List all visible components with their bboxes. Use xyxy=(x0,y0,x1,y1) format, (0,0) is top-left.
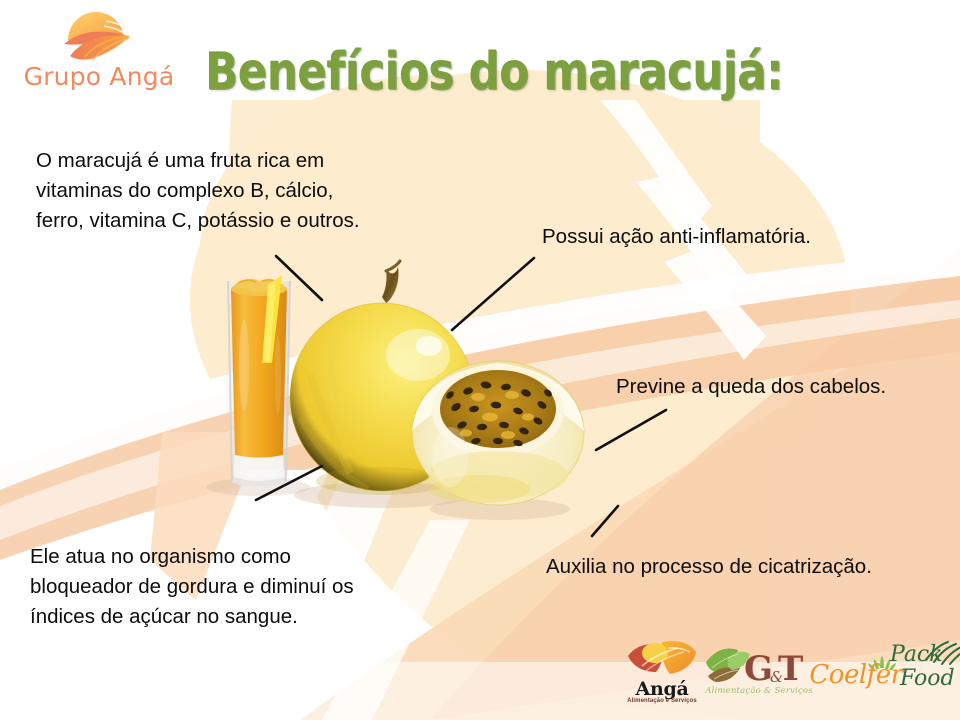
svg-text:&: & xyxy=(770,668,783,686)
fruit-stem xyxy=(382,267,399,303)
passion-fruit-artwork xyxy=(150,245,610,535)
juice-glass xyxy=(228,275,290,487)
half-fruit xyxy=(412,361,584,505)
partner-anga-subtitle: Alimentação e Serviços xyxy=(622,698,702,704)
partner-logo-strip: Angá Alimentação e Serviços G T & Alimen… xyxy=(612,636,956,716)
partner-gt-subtitle: Alimentação & Serviços xyxy=(704,686,814,696)
infographic-slide: Grupo Angá Benefícios do maracujá: xyxy=(0,0,960,720)
partner-logo-packfood: Pack Food xyxy=(888,640,960,700)
leaf-sun-icon xyxy=(622,638,702,678)
callout-healing: Auxilia no processo de cicatrização. xyxy=(546,552,956,582)
svg-text:G: G xyxy=(744,649,773,689)
callout-fat-blocker: Ele atua no organismo como bloqueador de… xyxy=(30,542,460,632)
callout-anti-inflammatory: Possui ação anti-inflamatória. xyxy=(542,222,942,252)
sun-leaf-icon xyxy=(54,6,140,64)
partner-food-word: Food xyxy=(900,666,955,691)
artwork-svg xyxy=(150,245,610,535)
brand-logo-grupo-anga: Grupo Angá xyxy=(6,4,192,104)
leaves-icon: G T & xyxy=(704,642,814,690)
partner-pack-word: Pack xyxy=(890,642,943,667)
partner-anga-word: Angá xyxy=(622,678,702,700)
callout-hair-loss: Previne a queda dos cabelos. xyxy=(616,372,956,402)
callout-vitamins: O maracujá é uma fruta rica em vitaminas… xyxy=(36,146,456,236)
partner-logo-anga: Angá Alimentação e Serviços xyxy=(622,638,702,712)
brand-name: Grupo Angá xyxy=(6,62,192,91)
partner-logo-gt: G T & Alimentação & Serviços xyxy=(704,642,814,706)
page-title: Benefícios do maracujá: xyxy=(205,42,856,102)
